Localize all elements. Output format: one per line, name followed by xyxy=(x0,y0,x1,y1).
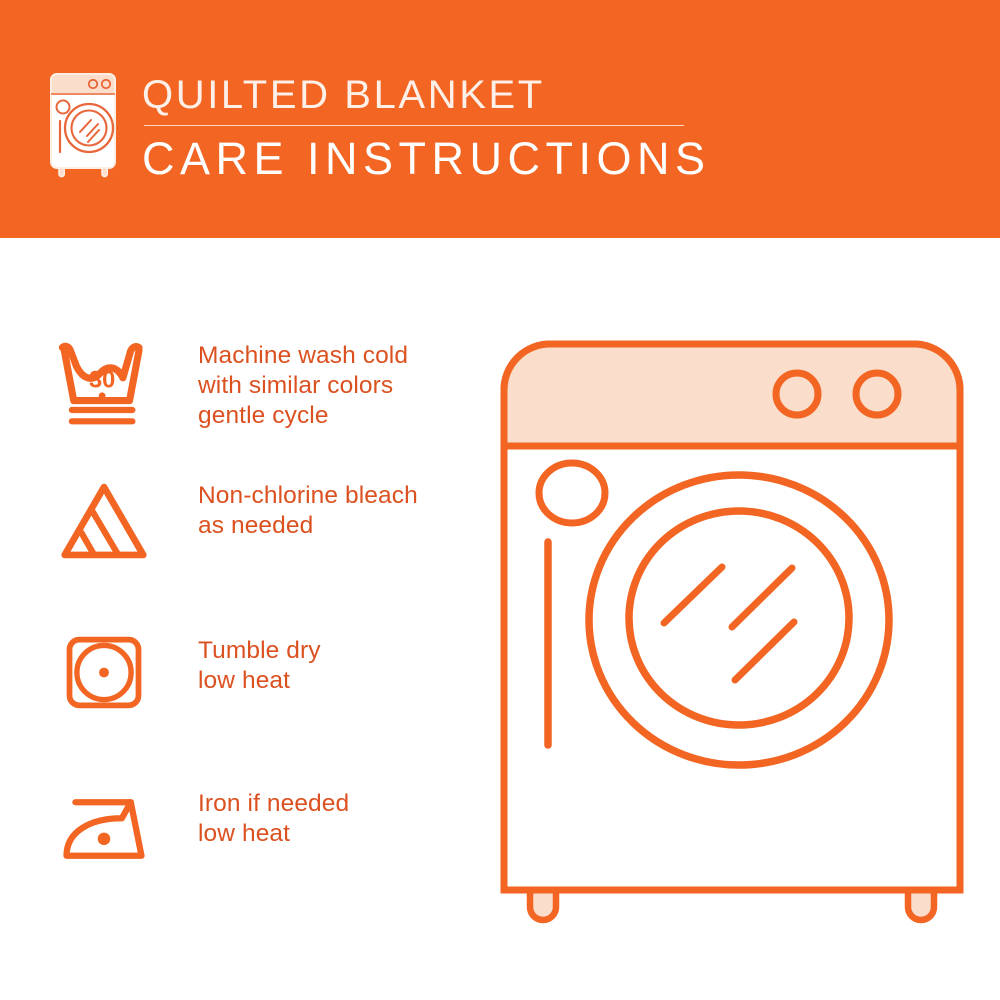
svg-text:30: 30 xyxy=(89,367,115,393)
instruction-text-iron: Iron if needed low heat xyxy=(198,786,349,849)
wash-tub-30-gentle-icon: 30 xyxy=(48,338,160,429)
care-instructions-page: QUILTED BLANKET CARE INSTRUCTIONS 30 xyxy=(0,0,1000,1000)
instruction-item-bleach: Non-chlorine bleach as needed xyxy=(48,478,478,564)
iron-low-heat-icon xyxy=(48,786,160,872)
instruction-line: low heat xyxy=(198,819,349,849)
non-chlorine-bleach-triangle-icon xyxy=(48,478,160,564)
instruction-item-wash: 30 Machine wash cold with similar colors… xyxy=(48,338,478,431)
instruction-text-bleach: Non-chlorine bleach as needed xyxy=(198,478,418,541)
tumble-dry-low-heat-icon xyxy=(48,633,160,712)
instruction-line: low heat xyxy=(198,666,321,696)
page-title-product: QUILTED BLANKET xyxy=(142,72,742,118)
instruction-line: Machine wash cold xyxy=(198,341,408,371)
instruction-item-iron: Iron if needed low heat xyxy=(48,786,478,872)
header-title-group: QUILTED BLANKET CARE INSTRUCTIONS xyxy=(142,72,742,185)
instruction-line: gentle cycle xyxy=(198,401,408,431)
header-banner: QUILTED BLANKET CARE INSTRUCTIONS xyxy=(0,0,1000,238)
instruction-line: Iron if needed xyxy=(198,789,349,819)
instruction-text-wash: Machine wash cold with similar colors ge… xyxy=(198,338,408,431)
instruction-text-tumble-dry: Tumble dry low heat xyxy=(198,633,321,696)
instruction-line: with similar colors xyxy=(198,371,408,401)
instruction-list: 30 Machine wash cold with similar colors… xyxy=(0,238,480,1000)
front-load-washing-machine-illustration xyxy=(492,330,972,940)
instruction-item-tumble-dry: Tumble dry low heat xyxy=(48,633,478,712)
title-divider xyxy=(144,125,684,126)
instruction-line: Non-chlorine bleach xyxy=(198,481,418,511)
instruction-line: as needed xyxy=(198,511,418,541)
page-title-care: CARE INSTRUCTIONS xyxy=(142,133,742,185)
washing-machine-icon xyxy=(44,66,126,178)
instruction-line: Tumble dry xyxy=(198,636,321,666)
